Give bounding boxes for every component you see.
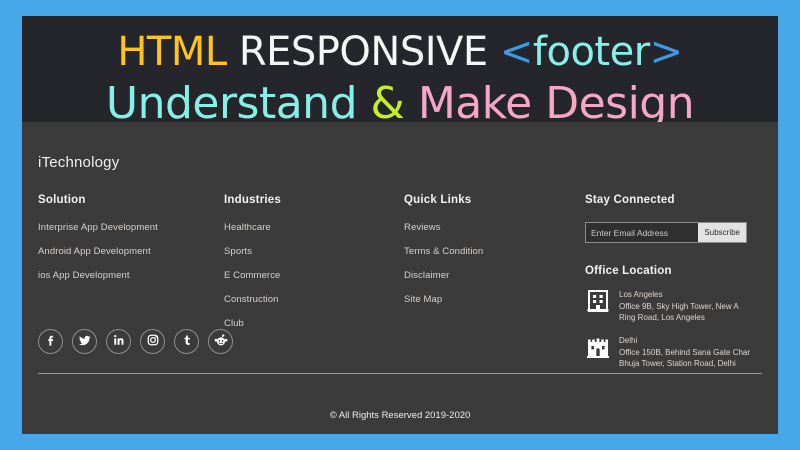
office-city: Los Angeles — [619, 289, 739, 300]
copyright-text: © All Rights Reserved 2019-2020 — [22, 410, 778, 421]
office-location-item: Los Angeles Office 9B, Sky High Tower, N… — [585, 288, 770, 323]
temple-building-icon — [585, 334, 611, 360]
title-banner: HTML RESPONSIVE <footer> Understand & Ma… — [22, 16, 778, 122]
link-disclaimer[interactable]: Disclaimer — [404, 270, 579, 281]
social-link-tumblr[interactable] — [174, 329, 199, 354]
linkedin-icon — [112, 333, 126, 350]
designer-link[interactable]: CodingTuting.Com — [388, 433, 467, 434]
social-link-linkedin[interactable] — [106, 329, 131, 354]
designed-by-text: Designed by CodingTuting.Com — [22, 433, 778, 434]
link-site-map[interactable]: Site Map — [404, 294, 579, 305]
newsletter-form: Subscribe — [585, 222, 747, 243]
office-city: Delhi — [619, 335, 750, 346]
column-title-solution: Solution — [38, 194, 228, 206]
footer-column-stay-connected: Stay Connected Subscribe Office Location — [585, 194, 770, 369]
brand-name: iTechnology — [38, 154, 119, 171]
link-android-app-development[interactable]: Android App Development — [38, 246, 228, 257]
social-link-instagram[interactable] — [140, 329, 165, 354]
twitter-icon — [78, 333, 92, 350]
social-link-reddit[interactable] — [208, 329, 233, 354]
column-title-industries: Industries — [224, 194, 399, 206]
office-address-line-1: Office 9B, Sky High Tower, New A — [619, 302, 739, 311]
title-line-1: HTML RESPONSIVE <footer> — [22, 28, 778, 76]
column-title-quick-links: Quick Links — [404, 194, 579, 206]
reddit-icon — [214, 333, 228, 350]
title-bracket-open: < — [500, 29, 533, 75]
footer-divider — [38, 373, 762, 374]
link-healthcare[interactable]: Healthcare — [224, 222, 399, 233]
link-terms-condition[interactable]: Terms & Condition — [404, 246, 579, 257]
link-club[interactable]: Club — [224, 318, 399, 329]
column-title-stay-connected: Stay Connected — [585, 194, 770, 206]
office-address-line-2: Bhuja Tower, Station Road, Delhi — [619, 359, 736, 368]
office-address-block: Los Angeles Office 9B, Sky High Tower, N… — [619, 288, 739, 323]
link-reviews[interactable]: Reviews — [404, 222, 579, 233]
social-link-twitter[interactable] — [72, 329, 97, 354]
link-ecommerce[interactable]: E Commerce — [224, 270, 399, 281]
link-interprise-app-development[interactable]: Interprise App Development — [38, 222, 228, 233]
social-link-facebook[interactable] — [38, 329, 63, 354]
title-word-footer: footer — [533, 29, 650, 75]
footer-column-solution: Solution Interprise App Development Andr… — [38, 194, 228, 294]
email-input[interactable] — [586, 223, 698, 242]
footer-column-industries: Industries Healthcare Sports E Commerce … — [224, 194, 399, 342]
designed-by-label: Designed by — [333, 433, 388, 434]
social-links — [38, 329, 233, 354]
title-bracket-close: > — [650, 29, 683, 75]
footer-region: iTechnology Solution Interprise App Deve… — [22, 122, 778, 434]
instagram-icon — [146, 333, 160, 350]
title-word-html: HTML — [117, 29, 226, 75]
link-ios-app-development[interactable]: ios App Development — [38, 270, 228, 281]
page-frame: HTML RESPONSIVE <footer> Understand & Ma… — [0, 0, 800, 450]
office-address-line-2: Ring Road, Los Angeles — [619, 313, 705, 322]
subscribe-button[interactable]: Subscribe — [698, 223, 746, 242]
link-sports[interactable]: Sports — [224, 246, 399, 257]
title-word-responsive: RESPONSIVE — [239, 29, 488, 75]
facebook-icon — [44, 333, 58, 350]
office-location-item: Delhi Office 150B, Behind Sana Gate Char… — [585, 334, 770, 369]
tumblr-icon — [180, 333, 194, 350]
link-construction[interactable]: Construction — [224, 294, 399, 305]
office-address-line-1: Office 150B, Behind Sana Gate Char — [619, 348, 750, 357]
office-address-block: Delhi Office 150B, Behind Sana Gate Char… — [619, 334, 750, 369]
office-building-icon — [585, 288, 611, 314]
office-location-title: Office Location — [585, 265, 770, 277]
footer-preview-page: HTML RESPONSIVE <footer> Understand & Ma… — [22, 16, 778, 434]
footer-column-quick-links: Quick Links Reviews Terms & Condition Di… — [404, 194, 579, 318]
